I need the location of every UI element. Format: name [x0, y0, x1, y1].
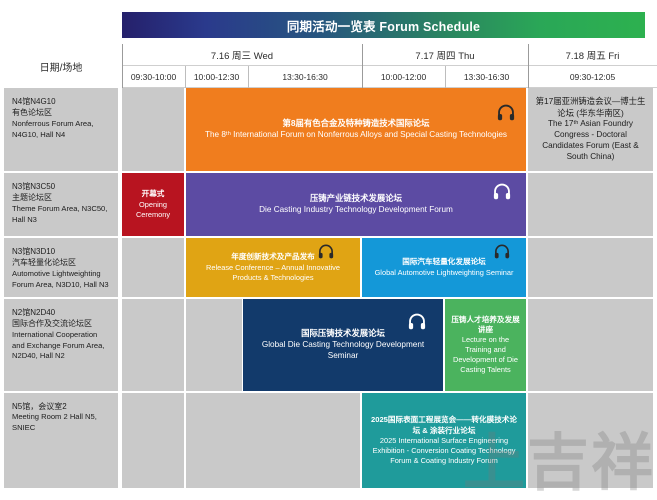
time-slot-4-label: 13:30-16:30 [464, 72, 509, 82]
time-slot-5: 09:30-12:05 [528, 66, 657, 88]
schedule-grid: N4馆N4G10 有色论坛区 Nonferrous Forum Area, N4… [0, 88, 657, 500]
venue-label-row-1: N3馆N3C50 主题论坛区 Theme Forum Area, N3C50, … [4, 173, 118, 236]
venue-1-zh2: 主题论坛区 [12, 192, 112, 203]
empty-cell-r1c5 [528, 173, 653, 236]
event-die-casting-industry-forum-en: Die Casting Industry Technology Developm… [259, 205, 453, 216]
empty-cell-r0c0 [122, 88, 184, 171]
time-slot-0: 09:30-10:00 [122, 66, 185, 88]
event-opening-ceremony-zh: 开幕式 [142, 189, 165, 199]
event-asian-foundry-congress-zh: 第17届亚洲铸造会议—博士生论坛 (华东华南区) [534, 96, 647, 119]
event-release-conference[interactable]: 年度创新技术及产品发布 Release Conference – Annual … [186, 238, 360, 297]
event-asian-foundry-congress-en: The 17ᵗʰ Asian Foundry Congress - Doctor… [534, 119, 647, 163]
day-header-2-label: 7.18 周五 Fri [566, 48, 620, 62]
schedule-header: 7.16 周三 Wed 7.17 周四 Thu 7.18 周五 Fri 09:3… [0, 44, 657, 88]
day-header-1: 7.17 周四 Thu [362, 44, 528, 66]
headphones-icon [492, 183, 512, 200]
event-die-casting-talents-lecture[interactable]: 压铸人才培养及发展讲座 Lecture on the Training and … [445, 299, 526, 391]
time-slot-3-label: 10:00-12:00 [381, 72, 426, 82]
venue-4-zh1: N5馆，会议室2 [12, 401, 112, 412]
empty-cell-r2c5 [528, 238, 653, 297]
event-automotive-lightweighting-seminar-zh: 国际汽车轻量化发展论坛 [402, 257, 486, 267]
time-slot-0-label: 09:30-10:00 [131, 72, 176, 82]
page-title: 同期活动一览表 Forum Schedule [287, 16, 480, 35]
event-automotive-lightweighting-seminar[interactable]: 国际汽车轻量化发展论坛 Global Automotive Lightweigh… [362, 238, 526, 297]
event-die-casting-talents-lecture-en: Lecture on the Training and Development … [451, 335, 520, 375]
event-release-conference-zh: 年度创新技术及产品发布 [231, 252, 315, 262]
time-slot-1-label: 10:00-12:30 [194, 72, 239, 82]
empty-cell-r4c1 [186, 393, 360, 488]
time-slot-2: 13:30-16:30 [248, 66, 362, 88]
headphones-icon [496, 104, 516, 121]
event-opening-ceremony-en: Opening Ceremony [128, 200, 178, 220]
venue-0-zh2: 有色论坛区 [12, 107, 112, 118]
time-slot-2-label: 13:30-16:30 [282, 72, 327, 82]
event-automotive-lightweighting-seminar-en: Global Automotive Lightweighting Seminar [375, 268, 514, 278]
venue-label-row-0: N4馆N4G10 有色论坛区 Nonferrous Forum Area, N4… [4, 88, 118, 171]
venue-0-en: Nonferrous Forum Area, N4G10, Hall N4 [12, 119, 112, 141]
headphones-icon [407, 313, 427, 330]
empty-cell-r3c5 [528, 299, 653, 391]
event-global-die-casting-seminar-zh: 国际压铸技术发展论坛 [301, 328, 385, 339]
event-global-die-casting-seminar-en: Global Die Casting Technology Developmen… [249, 340, 437, 362]
venue-label-row-2: N3馆N3D10 汽车轻量化论坛区 Automotive Lightweight… [4, 238, 118, 297]
venue-2-zh2: 汽车轻量化论坛区 [12, 257, 112, 268]
event-asian-foundry-congress[interactable]: 第17届亚洲铸造会议—博士生论坛 (华东华南区) The 17ᵗʰ Asian … [528, 88, 653, 171]
venue-2-en: Automotive Lightweighting Forum Area, N3… [12, 269, 112, 291]
empty-cell-r4c0 [122, 393, 184, 488]
venue-2-zh1: N3馆N3D10 [12, 246, 112, 257]
venue-label-row-4: N5馆，会议室2 Meeting Room 2 Hall N5, SNIEC [4, 393, 118, 488]
venue-0-zh1: N4馆N4G10 [12, 96, 112, 107]
headphones-icon [316, 244, 336, 261]
watermark: 上吉祥 [463, 412, 655, 500]
event-die-casting-industry-forum-zh: 压铸产业链技术发展论坛 [310, 193, 402, 204]
event-die-casting-industry-forum[interactable]: 压铸产业链技术发展论坛 Die Casting Industry Technol… [186, 173, 526, 236]
day-header-2: 7.18 周五 Fri [528, 44, 657, 66]
time-slot-1: 10:00-12:30 [185, 66, 248, 88]
time-slot-5-label: 09:30-12:05 [570, 72, 615, 82]
event-die-casting-talents-lecture-zh: 压铸人才培养及发展讲座 [451, 315, 520, 335]
day-header-0: 7.16 周三 Wed [122, 44, 362, 66]
event-nonferrous-forum-zh: 第8届有色合金及特种铸造技术国际论坛 [282, 118, 429, 129]
empty-cell-r3c1 [186, 299, 242, 391]
venue-3-en: International Cooperation and Exchange F… [12, 330, 112, 362]
venue-1-zh1: N3馆N3C50 [12, 181, 112, 192]
event-nonferrous-forum[interactable]: 第8届有色合金及特种铸造技术国际论坛 The 8ᵗʰ International… [186, 88, 526, 171]
venue-4-en: Meeting Room 2 Hall N5, SNIEC [12, 412, 112, 434]
empty-cell-r2c0 [122, 238, 184, 297]
event-release-conference-en: Release Conference – Annual Innovative P… [192, 263, 354, 283]
venue-3-zh2: 国际合作及交流论坛区 [12, 318, 112, 329]
page-title-bar: 同期活动一览表 Forum Schedule [122, 12, 645, 38]
headphones-icon [492, 244, 512, 261]
event-global-die-casting-seminar[interactable]: 国际压铸技术发展论坛 Global Die Casting Technology… [243, 299, 443, 391]
time-slot-3: 10:00-12:00 [362, 66, 445, 88]
day-header-1-label: 7.17 周四 Thu [415, 48, 474, 62]
venue-3-zh1: N2馆N2D40 [12, 307, 112, 318]
event-opening-ceremony[interactable]: 开幕式 Opening Ceremony [122, 173, 184, 236]
empty-cell-r3c0 [122, 299, 184, 391]
day-header-0-label: 7.16 周三 Wed [211, 48, 273, 62]
time-slot-4: 13:30-16:30 [445, 66, 528, 88]
event-nonferrous-forum-en: The 8ᵗʰ International Forum on Nonferrou… [205, 130, 507, 141]
venue-label-row-3: N2馆N2D40 国际合作及交流论坛区 International Cooper… [4, 299, 118, 391]
forum-schedule-page: 同期活动一览表 Forum Schedule 日期/场地 7.16 周三 Wed… [0, 0, 657, 500]
venue-1-en: Theme Forum Area, N3C50, Hall N3 [12, 204, 112, 226]
